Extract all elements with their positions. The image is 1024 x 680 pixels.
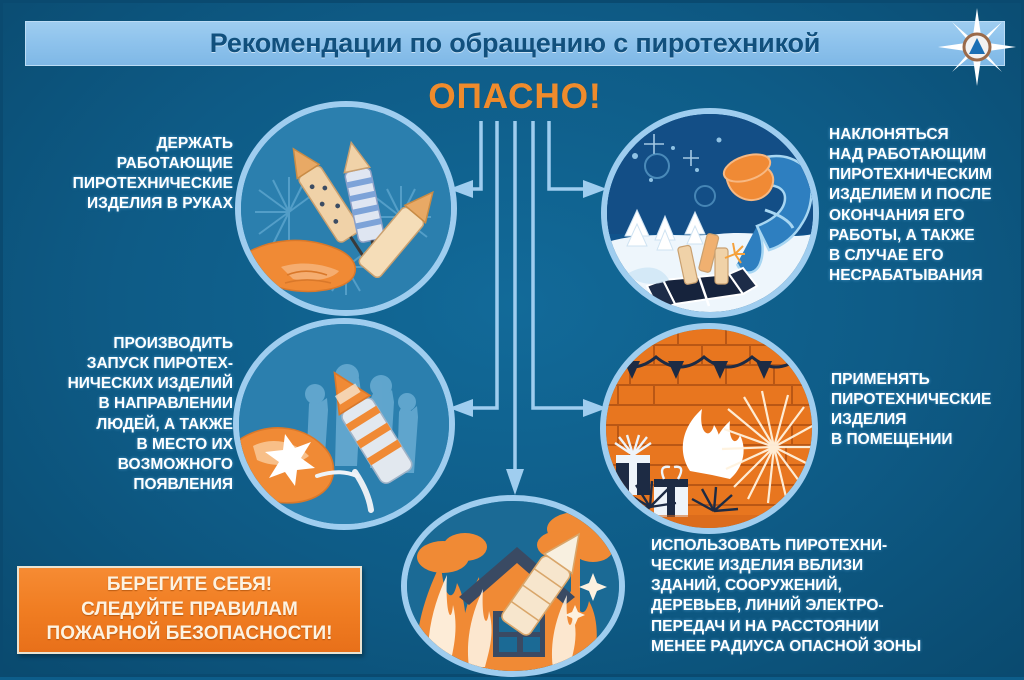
- illustration-burning-house-with-rocket: [401, 495, 625, 677]
- illustration-fireworks-indoors-brick-room: [600, 323, 818, 534]
- safety-banner: БЕРЕГИТЕ СЕБЯ! СЛЕДУЙТЕ ПРАВИЛАМ ПОЖАРНО…: [17, 566, 362, 654]
- safety-banner-line-1: БЕРЕГИТЕ СЕБЯ!: [107, 573, 272, 598]
- safety-banner-line-2: СЛЕДУЙТЕ ПРАВИЛАМ: [81, 598, 298, 623]
- illustration-hand-holding-firework-rockets: [235, 101, 457, 316]
- rule-text-launch-at-people: ПРОИЗВОДИТЬ ЗАПУСК ПИРОТЕХ- НИЧЕСКИХ ИЗД…: [21, 334, 233, 495]
- illustration-rocket-aimed-at-crowd: [233, 318, 455, 530]
- rule-text-near-buildings: ИСПОЛЬЗОВАТЬ ПИРОТЕХНИ- ЧЕСКИЕ ИЗДЕЛИЯ В…: [651, 536, 1024, 657]
- header-bar: Рекомендации по обращению с пиротехникой: [25, 21, 1005, 66]
- page-title: Рекомендации по обращению с пиротехникой: [210, 28, 820, 59]
- rule-text-indoors: ПРИМЕНЯТЬ ПИРОТЕХНИЧЕСКИЕ ИЗДЕЛИЯ В ПОМЕ…: [831, 370, 1024, 451]
- emercom-star-icon: [936, 6, 1018, 88]
- safety-banner-line-3: ПОЖАРНОЙ БЕЗОПАСНОСТИ!: [47, 622, 333, 647]
- illustration-person-leaning-over-firework-box: [601, 108, 819, 318]
- danger-label: ОПАСНО!: [3, 77, 1024, 117]
- rule-text-hold-in-hands: ДЕРЖАТЬ РАБОТАЮЩИЕ ПИРОТЕХНИЧЕСКИЕ ИЗДЕЛ…: [21, 134, 233, 215]
- poster-root: Рекомендации по обращению с пиротехникой…: [0, 0, 1024, 677]
- rule-text-lean-over: НАКЛОНЯТЬСЯ НАД РАБОТАЮЩИМ ПИРОТЕХНИЧЕСК…: [829, 125, 1024, 286]
